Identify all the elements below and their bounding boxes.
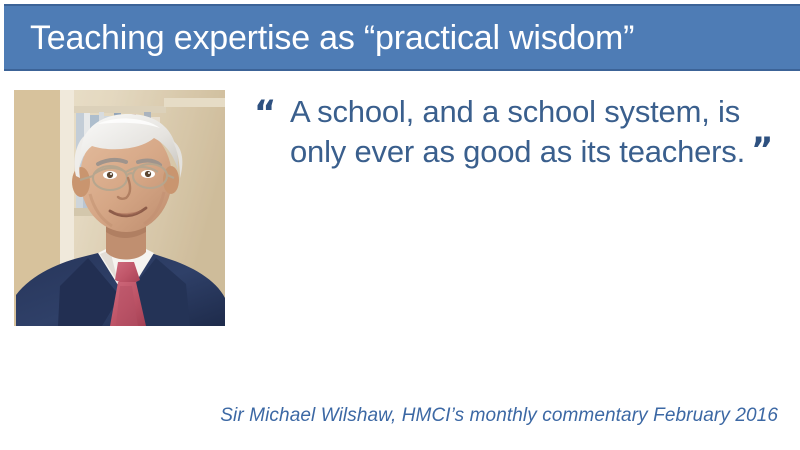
quote-body: A school, and a school system, is only e… [290, 94, 745, 169]
slide-title-bar: Teaching expertise as “practical wisdom” [4, 4, 800, 71]
quote-close-mark: ” [745, 130, 771, 170]
quote-block: “ A school, and a school system, is only… [250, 92, 790, 171]
page-title: Teaching expertise as “practical wisdom” [4, 21, 634, 55]
quote-attribution: Sir Michael Wilshaw, HMCI’s monthly comm… [0, 405, 778, 427]
quote-text: A school, and a school system, is only e… [250, 92, 790, 171]
slide-canvas: Teaching expertise as “practical wisdom” [0, 0, 800, 450]
quote-open-mark: “ [254, 96, 274, 130]
portrait-photo [14, 90, 225, 326]
portrait-image [14, 90, 225, 326]
